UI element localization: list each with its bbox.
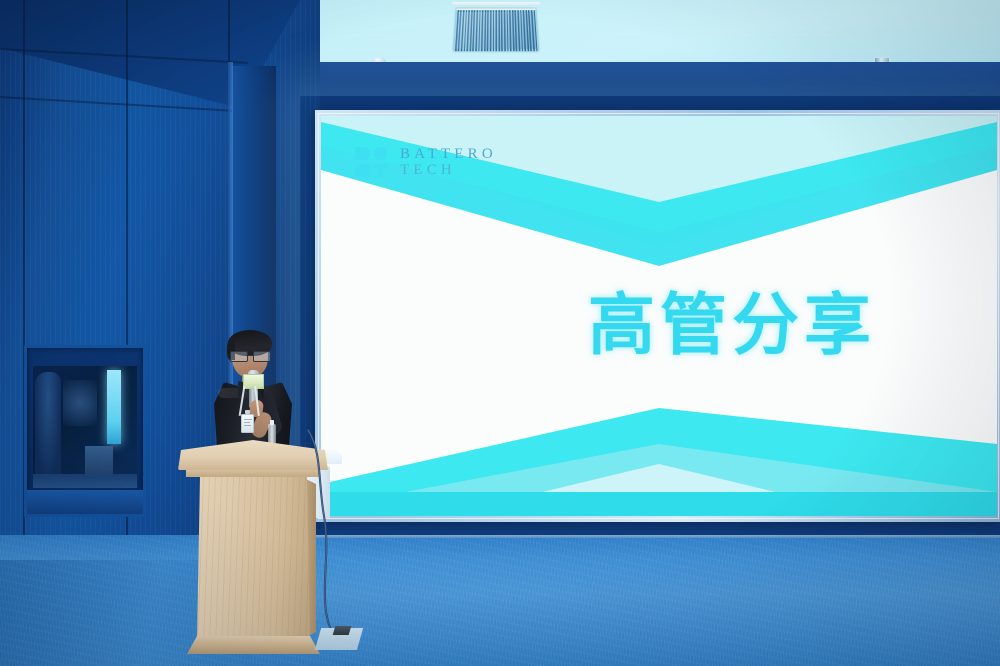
logo-shape-reverse-d (355, 164, 370, 177)
floor-outlet-plate (333, 626, 352, 635)
chevron-band-bottom-strip (321, 492, 997, 516)
microphone-cable (300, 430, 346, 640)
alcove-table (85, 446, 113, 476)
ceiling-slope (230, 0, 1000, 64)
slide-logo: BATTERO TECH (355, 146, 497, 178)
alcove-silhouette (35, 372, 61, 476)
battero-logo-mark-icon (355, 147, 389, 178)
logo-shape-t (373, 164, 388, 177)
alcove-reflection (63, 380, 97, 426)
alcove-glass (33, 366, 137, 488)
air-vent-icon (453, 8, 538, 51)
vent-trim (452, 2, 540, 6)
id-badge (241, 414, 254, 433)
alcove-window (24, 345, 146, 517)
photo-scene: BATTERO TECH 高管分享 (0, 0, 1000, 666)
alcove-floor (33, 474, 137, 488)
lectern-body (197, 476, 310, 640)
logo-shape-d (355, 147, 370, 160)
logo-shape-circle (374, 147, 387, 160)
wall-floor-baseline (236, 535, 1000, 538)
alcove-sill (27, 490, 143, 514)
wood-grain (197, 476, 310, 640)
glasses-icon (230, 351, 271, 360)
logo-wordmark-line1: BATTERO (400, 146, 497, 162)
slide-title: 高管分享 (588, 271, 876, 368)
slide-logo-text: BATTERO TECH (400, 146, 497, 178)
presentation-screen[interactable]: BATTERO TECH 高管分享 (321, 116, 997, 516)
logo-wordmark-line2: TECH (400, 162, 497, 178)
alcove-light-strip (107, 370, 121, 444)
